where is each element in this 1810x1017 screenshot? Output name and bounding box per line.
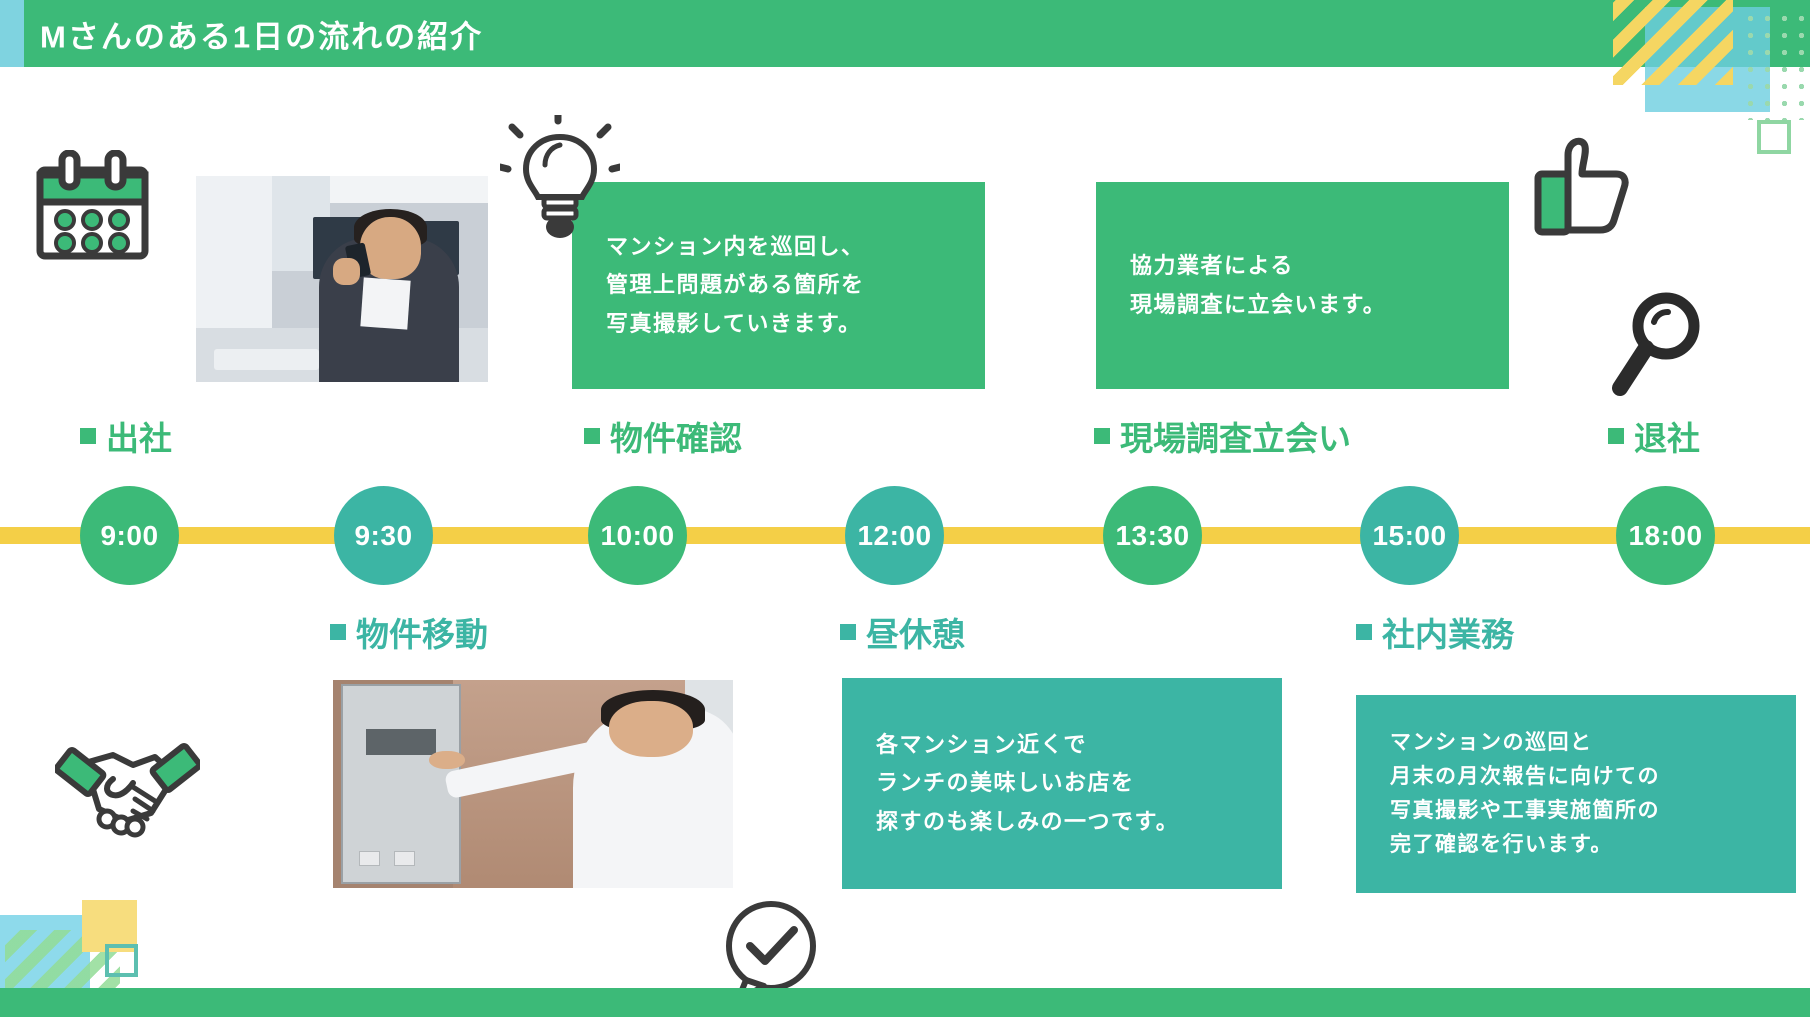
thumbs-up-icon	[1528, 130, 1638, 240]
timeline-node-18-00[interactable]: 18:00	[1616, 486, 1715, 585]
milestone-label-departure: 出社	[80, 412, 172, 460]
card-lunch: 各マンション近くで ランチの美味しいお店を 探すのも楽しみの一つです。	[842, 678, 1282, 889]
bullet-square-icon	[1356, 624, 1372, 640]
milestone-label-site-survey: 現場調査立会い	[1094, 412, 1351, 460]
milestone-label-leaving: 退社	[1608, 412, 1700, 460]
timeline-time-label: 15:00	[1360, 486, 1459, 585]
milestone-label-property-check: 物件確認	[584, 412, 742, 460]
header-accent-bar	[0, 0, 24, 67]
timeline-time-label: 12:00	[845, 486, 944, 585]
card-line: 管理上問題がある箇所を	[606, 266, 951, 305]
milestone-text: 昼休憩	[866, 608, 965, 656]
bullet-square-icon	[1608, 428, 1624, 444]
timeline-time-label: 9:00	[80, 486, 179, 585]
footer-bar	[0, 988, 1810, 1017]
milestone-text: 現場調査立会い	[1120, 412, 1351, 460]
bullet-square-icon	[80, 428, 96, 444]
timeline-node-9-00[interactable]: 9:00	[80, 486, 179, 585]
lightbulb-icon	[500, 115, 620, 245]
milestone-text: 社内業務	[1382, 608, 1514, 656]
decoration-yellow-stripes-top	[1613, 0, 1733, 85]
card-property-check: マンション内を巡回し、 管理上問題がある箇所を 写真撮影していきます。	[572, 182, 985, 389]
card-site-survey: 協力業者による 現場調査に立会います。	[1096, 182, 1509, 389]
milestone-text: 物件確認	[610, 412, 742, 460]
milestone-text: 退社	[1634, 412, 1700, 460]
milestone-text: 物件移動	[356, 608, 488, 656]
card-line: 協力業者による	[1130, 247, 1475, 286]
card-line: 現場調査に立会います。	[1130, 286, 1475, 325]
timeline-time-label: 18:00	[1616, 486, 1715, 585]
timeline-time-label: 10:00	[588, 486, 687, 585]
card-line: マンション内を巡回し、	[606, 228, 951, 267]
timeline-node-9-30[interactable]: 9:30	[334, 486, 433, 585]
card-line: 月末の月次報告に向けての	[1390, 760, 1762, 794]
milestone-label-property-move: 物件移動	[330, 608, 488, 656]
timeline-node-13-30[interactable]: 13:30	[1103, 486, 1202, 585]
milestone-label-lunch: 昼休憩	[840, 608, 965, 656]
card-line: ランチの美味しいお店を	[876, 764, 1248, 803]
photo-inspection	[333, 680, 733, 888]
decoration-dot-grid	[1742, 10, 1810, 120]
card-office-work: マンションの巡回と 月末の月次報告に向けての 写真撮影や工事実施箇所の 完了確認…	[1356, 695, 1796, 893]
card-line: マンションの巡回と	[1390, 726, 1762, 760]
timeline-node-12-00[interactable]: 12:00	[845, 486, 944, 585]
milestone-label-office-work: 社内業務	[1356, 608, 1514, 656]
photo-office	[196, 176, 488, 382]
decoration-outlined-square-top	[1757, 120, 1791, 154]
page-header: Mさんのある1日の流れの紹介	[0, 0, 1810, 67]
magnifier-icon	[1608, 290, 1713, 400]
bullet-square-icon	[584, 428, 600, 444]
handshake-icon	[55, 735, 200, 840]
card-line: 探すのも楽しみの一つです。	[876, 803, 1248, 842]
timeline-node-10-00[interactable]: 10:00	[588, 486, 687, 585]
card-line: 完了確認を行います。	[1390, 828, 1762, 862]
decoration-outlined-square-bottom	[105, 944, 138, 977]
card-line: 写真撮影や工事実施箇所の	[1390, 794, 1762, 828]
bullet-square-icon	[840, 624, 856, 640]
card-line: 写真撮影していきます。	[606, 305, 951, 344]
timeline-time-label: 13:30	[1103, 486, 1202, 585]
card-line: 各マンション近くで	[876, 726, 1248, 765]
bullet-square-icon	[1094, 428, 1110, 444]
timeline-time-label: 9:30	[334, 486, 433, 585]
page-title: Mさんのある1日の流れの紹介	[40, 11, 483, 56]
milestone-text: 出社	[106, 412, 172, 460]
calendar-icon	[30, 150, 155, 265]
timeline-node-15-00[interactable]: 15:00	[1360, 486, 1459, 585]
bullet-square-icon	[330, 624, 346, 640]
